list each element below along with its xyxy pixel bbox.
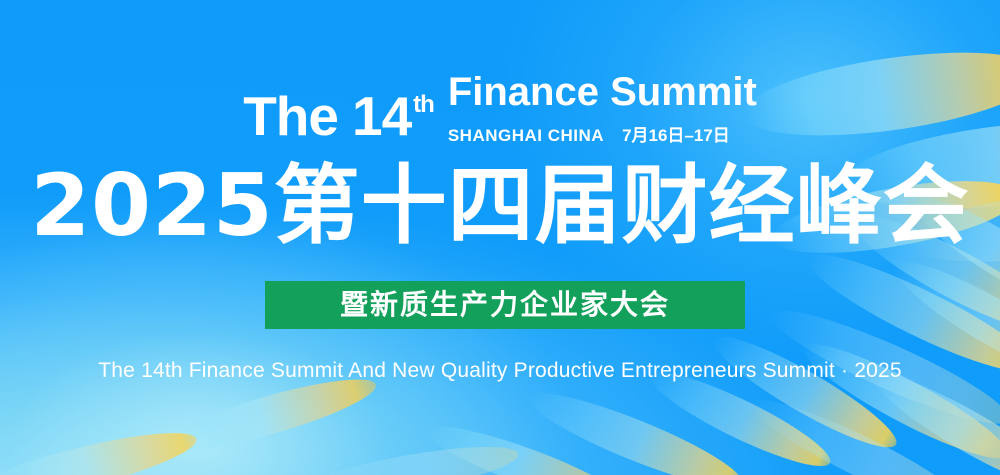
event-dates: 7月16日–17日 [622,121,730,146]
subtitle-banner-text: 暨新质生产力企业家大会 [340,291,670,319]
strapline: The 14th Finance Summit And New Quality … [0,359,1000,383]
edition-heading: The 14 th [243,89,434,144]
event-meta-row: SHANGHAI CHINA 7月16日–17日 [448,121,730,146]
ordinal-suffix: th [413,93,434,117]
event-name: Finance Summit [448,72,757,112]
the-label: The [243,89,338,144]
header-row: The 14 th Finance Summit SHANGHAI CHINA … [0,70,1000,144]
event-city: SHANGHAI CHINA [448,126,604,146]
edition-number: 14 [352,89,411,144]
subtitle-banner: 暨新质生产力企业家大会 [265,281,745,329]
main-title: 2025第十四届财经峰会 [0,163,1000,249]
summit-banner: The 14 th Finance Summit SHANGHAI CHINA … [0,0,1000,475]
event-name-block: Finance Summit SHANGHAI CHINA 7月16日–17日 [448,72,757,146]
